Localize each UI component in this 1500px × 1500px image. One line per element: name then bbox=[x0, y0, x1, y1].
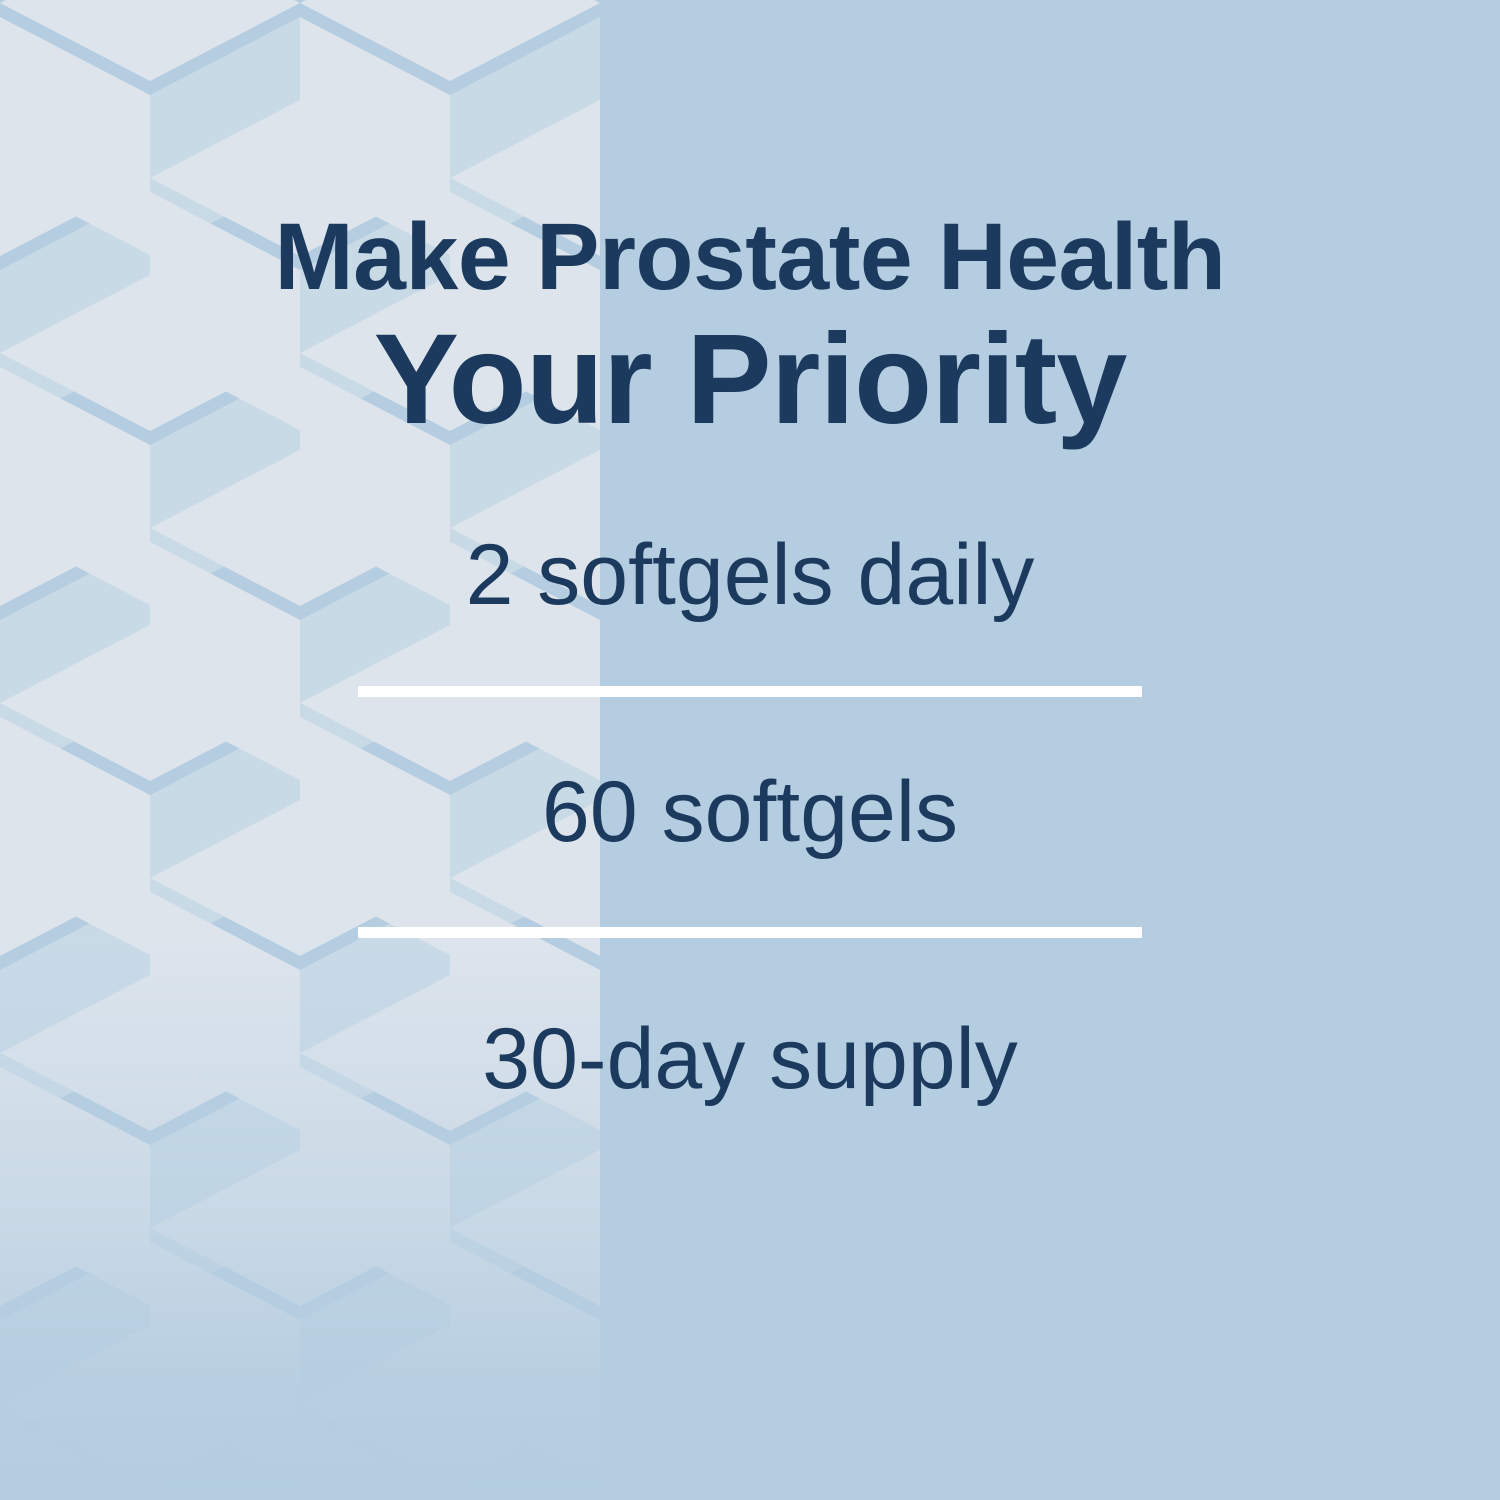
fact-supply-duration: 30-day supply bbox=[482, 1016, 1017, 1102]
divider-1 bbox=[358, 686, 1142, 697]
product-info-card: Make Prostate Health Your Priority 2 sof… bbox=[0, 0, 1500, 1500]
content-column: Make Prostate Health Your Priority 2 sof… bbox=[0, 0, 1500, 1500]
fact-dosage: 2 softgels daily bbox=[466, 532, 1035, 618]
headline-line-1: Make Prostate Health bbox=[0, 208, 1500, 307]
divider-2 bbox=[358, 927, 1142, 938]
headline: Make Prostate Health Your Priority bbox=[0, 208, 1500, 446]
fact-list: 2 softgels daily 60 softgels 30-day supp… bbox=[358, 532, 1142, 1102]
headline-line-2: Your Priority bbox=[0, 313, 1500, 446]
fact-count: 60 softgels bbox=[542, 769, 958, 855]
